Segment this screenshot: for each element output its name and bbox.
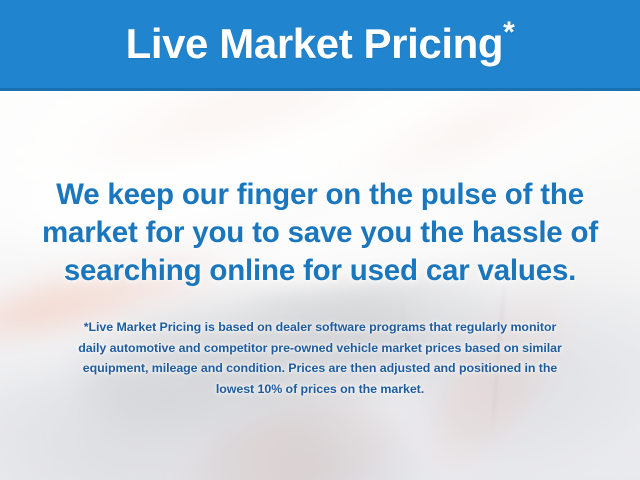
disclaimer-footnote: *Live Market Pricing is based on dealer … <box>0 317 640 399</box>
page-title-asterisk: * <box>503 16 514 49</box>
live-market-pricing-promo: Live Market Pricing* We keep our finger … <box>0 0 640 480</box>
page-title-text: Live Market Pricing <box>126 20 504 67</box>
footnote-line-1: *Live Market Pricing is based on dealer … <box>24 317 616 338</box>
footnote-line-3: equipment, mileage and condition. Prices… <box>24 358 616 379</box>
page-title: Live Market Pricing* <box>126 23 515 65</box>
header-banner: Live Market Pricing* <box>0 0 640 91</box>
headline: We keep our finger on the pulse of the m… <box>0 176 640 290</box>
footnote-line-4: lowest 10% of prices on the market. <box>24 379 616 400</box>
headline-line-1: We keep our finger on the pulse of the <box>18 176 622 214</box>
headline-line-2: market for you to save you the hassle of <box>18 214 622 252</box>
footnote-line-2: daily automotive and competitor pre-owne… <box>24 338 616 359</box>
headline-line-3: searching online for used car values. <box>18 252 622 290</box>
